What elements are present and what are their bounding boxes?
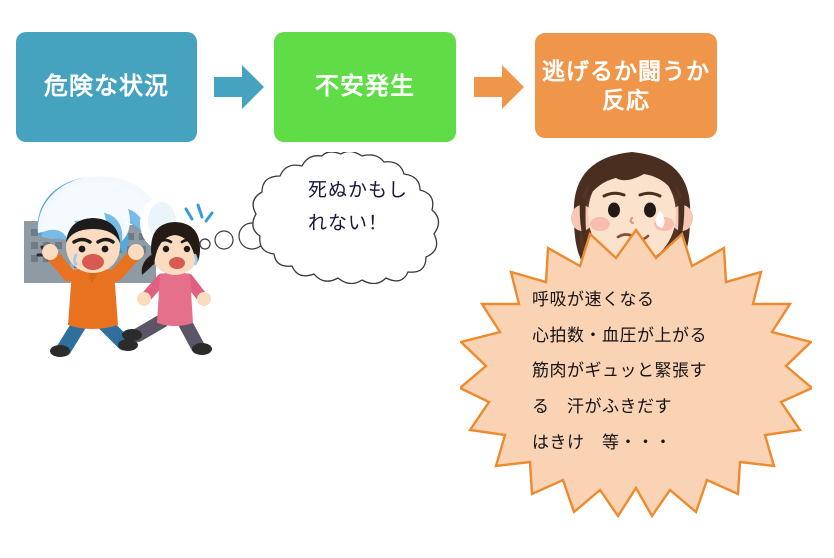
tsunami-people-fleeing-illustration <box>12 163 227 358</box>
flow-box-anxiety-label: 不安発生 <box>315 72 415 102</box>
flow-box-response-label: 逃げるか闘うか 反応 <box>542 57 710 115</box>
flow-box-response[interactable]: 逃げるか闘うか 反応 <box>535 33 717 138</box>
thought-cloud-icon: 死ぬかもし れない！ <box>196 152 466 284</box>
right-arrow-icon-2 <box>472 60 526 114</box>
starburst-text: 呼吸が速くなる 心拍数・血圧が上がる 筋肉がギュッと緊張す る 汗がふきだす は… <box>532 282 764 460</box>
starburst-shape: 呼吸が速くなる 心拍数・血圧が上がる 筋肉がギュッと緊張す る 汗がふきだす は… <box>460 228 812 518</box>
diagram-canvas: 危険な状況 不安発生 逃げるか闘うか 反応 <box>0 0 834 558</box>
flow-box-danger[interactable]: 危険な状況 <box>16 32 197 142</box>
right-arrow-icon-1 <box>212 60 266 114</box>
flow-box-danger-label: 危険な状況 <box>44 72 169 102</box>
flow-box-anxiety[interactable]: 不安発生 <box>274 32 456 142</box>
thought-bubble-text: 死ぬかもし れない！ <box>308 174 438 241</box>
